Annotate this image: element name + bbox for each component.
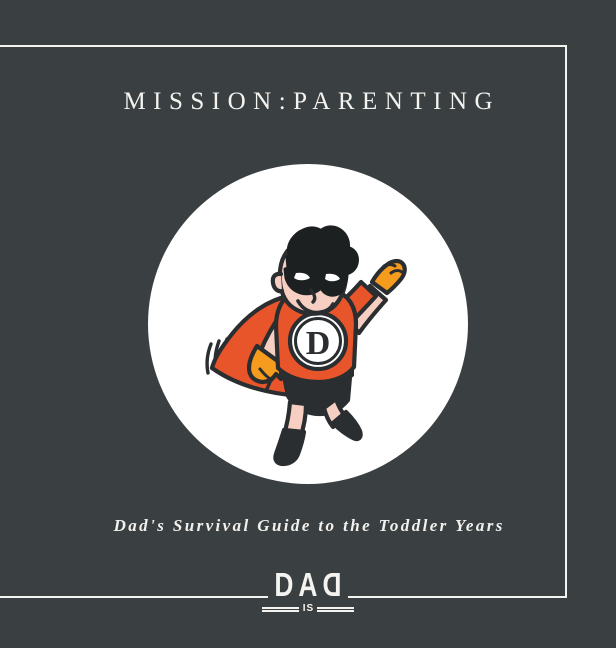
logo-letter-d2: D: [322, 570, 341, 600]
superhero-dad-illustration: D: [148, 164, 468, 484]
dad-is-logo[interactable]: D A D IS: [268, 566, 348, 622]
medallion-circle: D: [148, 164, 468, 484]
logo-wordmark: D A D: [268, 566, 348, 600]
left-boot: [275, 430, 304, 464]
chest-emblem: D: [290, 313, 346, 369]
ear: [273, 274, 282, 291]
logo-rule-left: [262, 607, 299, 612]
logo-letter-a: A: [298, 570, 317, 600]
logo-tagline: IS: [302, 604, 314, 614]
page-title: MISSION:PARENTING: [0, 88, 616, 116]
logo-letter-d1: D: [275, 570, 294, 600]
logo-rule-right: [317, 607, 354, 612]
book-cover: MISSION:PARENTING: [0, 0, 616, 648]
logo-tagline-row: IS: [262, 601, 354, 617]
page-subtitle: Dad's Survival Guide to the Toddler Year…: [0, 516, 616, 536]
svg-text:D: D: [306, 325, 331, 362]
